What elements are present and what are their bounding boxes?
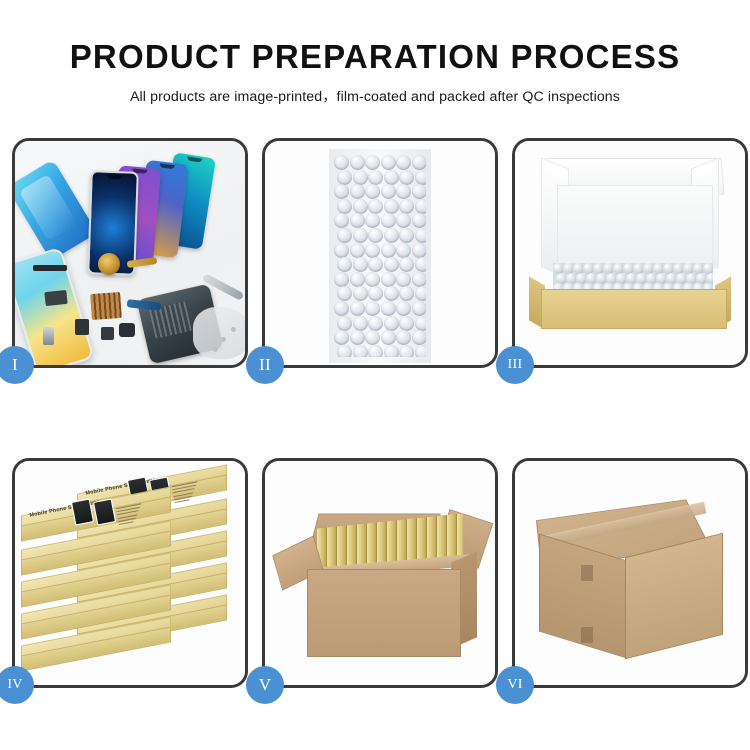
bubble	[353, 228, 368, 243]
bubble	[396, 301, 411, 316]
page-subtitle: All products are image-printed，film-coat…	[0, 75, 750, 106]
carton-sealed-scene	[515, 461, 745, 685]
bubble	[381, 184, 396, 199]
box-stack-scene: Mobile Phone Spare PartsMobile Phone Spa…	[15, 461, 245, 685]
bubble	[384, 199, 399, 214]
bubble	[350, 213, 365, 228]
earpiece-part	[33, 265, 67, 271]
step-panel-5: V Retail boxes loaded into an outer ship…	[262, 458, 498, 688]
step-badge-4: IV	[0, 666, 34, 704]
bubble	[365, 184, 380, 199]
bubble	[381, 272, 396, 287]
speaker-coil-part	[98, 253, 120, 275]
spare-parts-box: Mobile Phone Spare Parts	[21, 501, 171, 527]
bubble	[350, 301, 365, 316]
step-badge-5: V	[246, 666, 284, 704]
bubble	[399, 345, 414, 357]
bubble	[365, 155, 380, 170]
step-badge-2: II	[246, 346, 284, 384]
bubble	[412, 301, 427, 316]
bubble	[337, 286, 352, 301]
bubble	[384, 257, 399, 272]
bubble	[337, 257, 352, 272]
step-image-3	[515, 141, 745, 365]
bubble	[353, 199, 368, 214]
bubble	[334, 330, 349, 345]
bubble	[396, 330, 411, 345]
bubble	[350, 155, 365, 170]
screw-part	[231, 327, 236, 332]
screw-part	[221, 337, 226, 342]
hand	[193, 307, 245, 359]
bubble	[365, 243, 380, 258]
camera-module-part	[44, 290, 67, 306]
bubble	[399, 199, 414, 214]
bubble	[384, 170, 399, 185]
box-front-panel	[541, 289, 727, 329]
bubble	[415, 170, 426, 185]
bubble	[384, 316, 399, 331]
step-panel-4: Mobile Phone Spare PartsMobile Phone Spa…	[12, 458, 248, 688]
bubble	[368, 228, 383, 243]
notch-icon	[107, 175, 122, 180]
bubble	[350, 330, 365, 345]
small-part-b	[101, 327, 114, 340]
bubble	[368, 257, 383, 272]
bubble	[412, 330, 427, 345]
carton-seam	[581, 627, 593, 643]
step-image-4: Mobile Phone Spare PartsMobile Phone Spa…	[15, 461, 245, 685]
bubble	[353, 286, 368, 301]
bubble	[399, 257, 414, 272]
step-panel-6: VI Carton taped and sealed ready for shi…	[512, 458, 748, 688]
bubble	[415, 345, 426, 357]
bubble	[396, 213, 411, 228]
bubble	[368, 345, 383, 357]
bubble	[337, 228, 352, 243]
bubble	[412, 272, 427, 287]
bubble-grid	[334, 155, 426, 357]
notch-icon	[160, 163, 175, 169]
bubble	[337, 199, 352, 214]
carton-filled-scene	[265, 461, 495, 685]
bubble	[396, 272, 411, 287]
step-badge-1: I	[0, 346, 34, 384]
step-badge-6: VI	[496, 666, 534, 704]
bubble	[399, 286, 414, 301]
small-part-a	[75, 319, 89, 335]
infographic-page: PRODUCT PREPARATION PROCESS All products…	[0, 0, 750, 750]
bubble	[353, 345, 368, 357]
bubble	[334, 301, 349, 316]
step-badge-3: III	[496, 346, 534, 384]
bubble	[353, 316, 368, 331]
step-image-5	[265, 461, 495, 685]
bubble	[412, 213, 427, 228]
bubble	[415, 257, 426, 272]
bubble	[334, 184, 349, 199]
bubble	[415, 228, 426, 243]
box-inner-liner	[557, 185, 713, 269]
connector-grid-part	[90, 292, 122, 320]
notch-icon	[187, 156, 202, 162]
bubble	[337, 316, 352, 331]
bubble	[368, 316, 383, 331]
step-panel-1: I Mobile phone screens, protective films…	[12, 138, 248, 368]
protective-film	[15, 159, 97, 261]
carton-seam	[581, 565, 593, 581]
bubble	[337, 345, 352, 357]
step-image-2	[265, 141, 495, 365]
bubble	[350, 243, 365, 258]
bubble	[334, 243, 349, 258]
phone-parts-scene	[15, 141, 245, 365]
bubble	[384, 345, 399, 357]
bubble	[415, 316, 426, 331]
bubble	[381, 155, 396, 170]
step-image-1	[15, 141, 245, 365]
sim-tray-part	[43, 327, 54, 345]
carton-front	[307, 569, 461, 657]
bubble	[412, 243, 427, 258]
bubble	[415, 286, 426, 301]
header: PRODUCT PREPARATION PROCESS All products…	[0, 0, 750, 106]
bubble	[365, 272, 380, 287]
bubble	[365, 330, 380, 345]
bubble	[353, 170, 368, 185]
step-panel-3: III Bubble wrapped items placed in a lin…	[512, 138, 748, 368]
small-part-c	[119, 323, 135, 337]
inner-box-scene	[515, 141, 745, 365]
step-image-6	[515, 461, 745, 685]
bubble	[337, 170, 352, 185]
bubble	[334, 155, 349, 170]
bubble	[365, 213, 380, 228]
bubble	[381, 301, 396, 316]
bubble	[365, 301, 380, 316]
bubble	[381, 330, 396, 345]
page-title: PRODUCT PREPARATION PROCESS	[0, 0, 750, 75]
bubble	[381, 243, 396, 258]
bubble	[412, 184, 427, 199]
bubble	[334, 272, 349, 287]
bubble	[353, 257, 368, 272]
bubble-wrap-scene	[265, 141, 495, 365]
bubble	[384, 286, 399, 301]
bubble	[396, 184, 411, 199]
bubble	[396, 155, 411, 170]
step-panel-2: II Product sealed in bubble wrap film	[262, 138, 498, 368]
bubble	[399, 170, 414, 185]
bubble	[350, 184, 365, 199]
bubble	[396, 243, 411, 258]
bubble	[350, 272, 365, 287]
bubble	[334, 213, 349, 228]
bubble	[384, 228, 399, 243]
bubble	[399, 316, 414, 331]
bubble	[368, 170, 383, 185]
bubble	[415, 199, 426, 214]
bubble	[368, 286, 383, 301]
screw-part	[213, 347, 218, 352]
bubble	[399, 228, 414, 243]
bubble	[381, 213, 396, 228]
box-stack: Mobile Phone Spare PartsMobile Phone Spa…	[15, 467, 245, 685]
spare-parts-box	[21, 631, 171, 657]
bubble	[412, 155, 427, 170]
bubble	[368, 199, 383, 214]
